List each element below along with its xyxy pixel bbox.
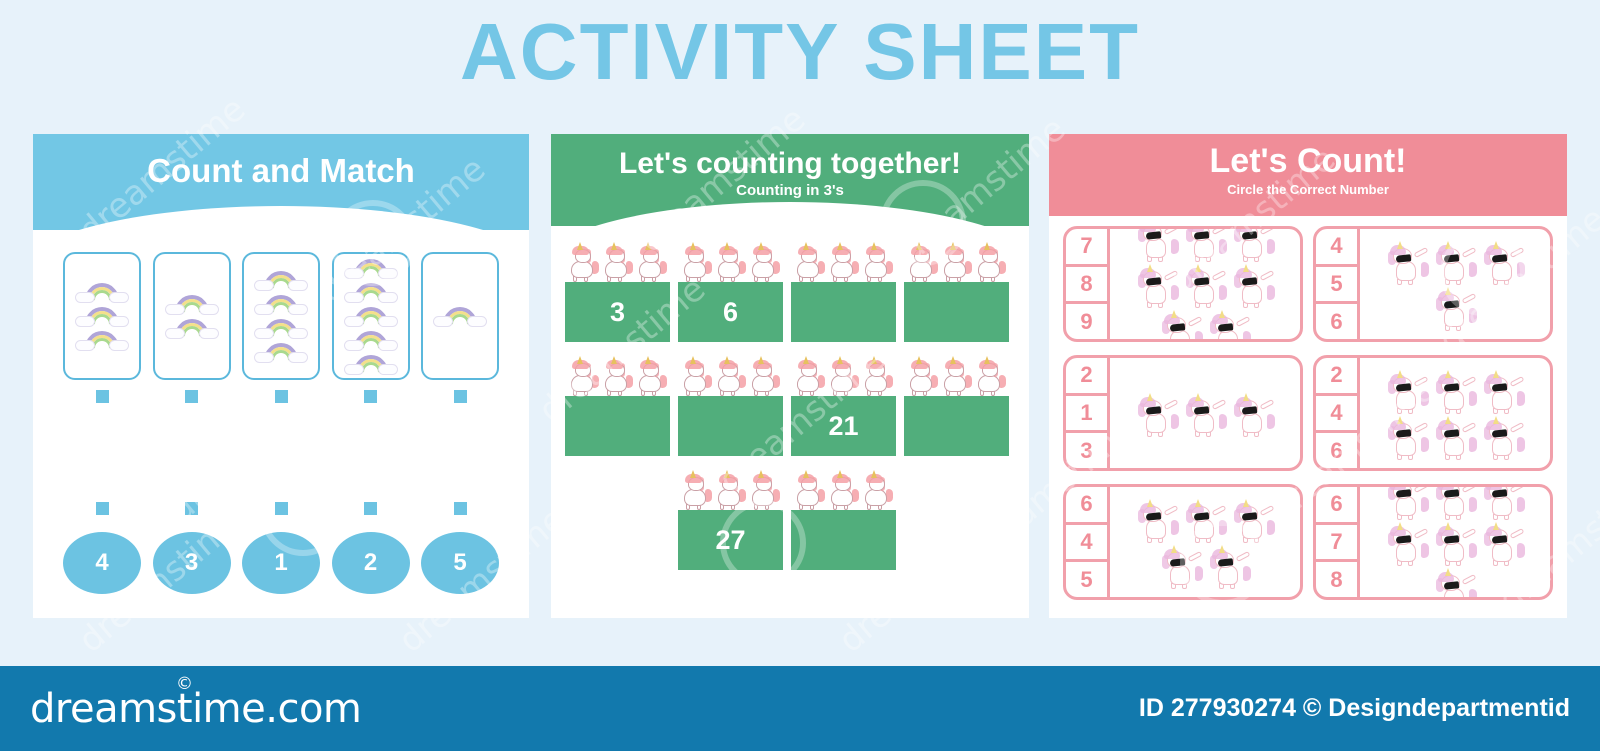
dabbing-unicorn-icon [1480, 238, 1526, 284]
dabbing-unicorn-icon [1230, 261, 1276, 307]
number-choice-column: 456 [1316, 229, 1360, 339]
unicorn-icon [859, 468, 895, 508]
unicorn-icon [825, 468, 861, 508]
match-square[interactable] [96, 502, 109, 515]
dabbing-unicorn-icon [1134, 496, 1180, 542]
number-choice[interactable]: 1 [1066, 396, 1107, 434]
match-square-cell [421, 390, 499, 403]
counting-cell [904, 352, 1009, 456]
counting-answer-box[interactable]: 27 [678, 510, 783, 570]
answer-number-oval[interactable]: 4 [63, 532, 141, 594]
match-square[interactable] [364, 390, 377, 403]
counting-row: 21 [565, 352, 1017, 456]
unicorn-icon [712, 240, 748, 280]
unicorn-icon [825, 354, 861, 394]
dabbing-unicorn-icon [1480, 413, 1526, 459]
unicorn-group [791, 466, 896, 508]
dabbing-unicorn-icon [1230, 390, 1276, 436]
dabbing-unicorn-icon [1230, 226, 1276, 261]
dabbing-unicorn-icon [1182, 261, 1228, 307]
rainbow-icon [344, 353, 398, 375]
counting-answer-box[interactable] [904, 396, 1009, 456]
number-choice[interactable]: 2 [1066, 358, 1107, 396]
dabbing-unicorn-icon [1480, 367, 1526, 413]
rainbow-count-card[interactable] [421, 252, 499, 380]
unicorn-icon [633, 354, 669, 394]
rainbow-icon [254, 269, 308, 291]
circle-number-card: 213 [1063, 355, 1303, 471]
rainbow-icon [433, 305, 487, 327]
counting-row: 27 [565, 466, 1017, 570]
counting-cell: 3 [565, 238, 670, 342]
answer-number-oval[interactable]: 3 [153, 532, 231, 594]
match-square-cell [242, 502, 320, 515]
rainbow-icon [344, 329, 398, 351]
image-credit: ID 277930274 © Designdepartmentid [1139, 694, 1570, 723]
number-choice[interactable]: 3 [1066, 433, 1107, 468]
dabbing-unicorn-icon [1182, 496, 1228, 542]
answer-number-row: 43125 [63, 532, 499, 594]
rainbow-icon [344, 305, 398, 327]
circle-number-card: 678 [1313, 484, 1553, 600]
counting-cell [791, 466, 896, 570]
rainbow-icon [75, 305, 129, 327]
unicorn-icon [825, 240, 861, 280]
dabbing-unicorn-icon [1432, 484, 1478, 519]
panel-lets-count: Let's Count! Circle the Correct Number 7… [1049, 134, 1567, 618]
number-choice[interactable]: 6 [1316, 433, 1357, 468]
unicorn-icon [599, 354, 635, 394]
number-choice[interactable]: 6 [1066, 487, 1107, 525]
rainbow-count-card[interactable] [242, 252, 320, 380]
unicorn-icon [712, 468, 748, 508]
footer-bar: dreamstime.com © ID 277930274 © Designde… [0, 666, 1600, 751]
unicorn-group [904, 352, 1009, 394]
dabbing-unicorn-icon [1480, 484, 1526, 519]
rainbow-icon [75, 281, 129, 303]
match-square-cell [421, 502, 499, 515]
match-square-cell [63, 390, 141, 403]
unicorn-picture-area [1110, 229, 1300, 339]
dabbing-unicorn-icon [1182, 390, 1228, 436]
dabbing-unicorn-icon [1384, 484, 1430, 519]
unicorn-icon [678, 240, 714, 280]
rainbow-icon [344, 257, 398, 279]
number-choice-column: 645 [1066, 487, 1110, 597]
dabbing-unicorn-icon [1432, 519, 1478, 565]
match-square-cell [63, 502, 141, 515]
number-choice[interactable]: 9 [1066, 304, 1107, 339]
rainbow-icon [75, 329, 129, 351]
unicorn-icon [791, 240, 827, 280]
counting-cell [678, 352, 783, 456]
circle-number-card: 246 [1313, 355, 1553, 471]
dabbing-unicorn-icon [1432, 367, 1478, 413]
lets-count-header: Let's Count! Circle the Correct Number [1049, 134, 1567, 216]
lets-counting-title: Let's counting together! [551, 148, 1029, 180]
match-square-row-top [63, 390, 499, 403]
number-choice[interactable]: 6 [1316, 304, 1357, 339]
counting-answer-box[interactable]: 3 [565, 282, 670, 342]
unicorn-group [678, 352, 783, 394]
circle-number-card: 789 [1063, 226, 1303, 342]
answer-number-oval[interactable]: 5 [421, 532, 499, 594]
number-choice[interactable]: 6 [1316, 487, 1357, 525]
activity-sheet-page: ACTIVITY SHEET Count and Match 43125 Let… [0, 0, 1600, 751]
dabbing-unicorn-icon [1432, 565, 1478, 600]
counting-answer-box[interactable] [791, 510, 896, 570]
unicorn-group [678, 466, 783, 508]
dabbing-unicorn-icon [1158, 542, 1204, 588]
unicorn-icon [633, 240, 669, 280]
unicorn-icon [678, 354, 714, 394]
number-choice[interactable]: 4 [1066, 525, 1107, 563]
unicorn-group [791, 352, 896, 394]
unicorn-icon [565, 354, 601, 394]
unicorn-icon [746, 468, 782, 508]
match-square[interactable] [275, 390, 288, 403]
counting-row: 36 [565, 238, 1017, 342]
unicorn-icon [904, 240, 940, 280]
answer-number-oval[interactable]: 1 [242, 532, 320, 594]
circle-number-card-grid: 789456213246645678 [1063, 226, 1553, 600]
match-square[interactable] [364, 502, 377, 515]
number-choice[interactable]: 5 [1066, 562, 1107, 597]
dabbing-unicorn-icon [1384, 519, 1430, 565]
counting-cell [565, 352, 670, 456]
lets-count-subtitle: Circle the Correct Number [1049, 182, 1567, 197]
number-choice[interactable]: 4 [1316, 229, 1357, 267]
counting-answer-box[interactable] [791, 282, 896, 342]
match-square[interactable] [454, 502, 467, 515]
unicorn-picture-area [1110, 487, 1300, 597]
counting-answer-box[interactable] [565, 396, 670, 456]
rainbow-count-card[interactable] [153, 252, 231, 380]
rainbow-icon [165, 317, 219, 339]
unicorn-icon [791, 354, 827, 394]
dabbing-unicorn-icon [1384, 413, 1430, 459]
unicorn-group [791, 238, 896, 280]
unicorn-icon [938, 354, 974, 394]
unicorn-icon [859, 240, 895, 280]
circle-number-card: 645 [1063, 484, 1303, 600]
dabbing-unicorn-icon [1206, 542, 1252, 588]
unicorn-icon [938, 240, 974, 280]
unicorn-icon [678, 468, 714, 508]
unicorn-group [904, 238, 1009, 280]
dabbing-unicorn-icon [1158, 307, 1204, 342]
rainbow-count-card[interactable] [63, 252, 141, 380]
number-choice-column: 213 [1066, 358, 1110, 468]
number-choice-column: 246 [1316, 358, 1360, 468]
match-square-cell [153, 502, 231, 515]
registered-mark-icon: © [176, 674, 193, 694]
unicorn-icon [859, 354, 895, 394]
header-wave-shape [33, 206, 529, 230]
panel-count-and-match: Count and Match 43125 [33, 134, 529, 618]
unicorn-icon [746, 354, 782, 394]
answer-number-oval[interactable]: 2 [332, 532, 410, 594]
number-choice[interactable]: 7 [1316, 525, 1357, 563]
match-square-cell [153, 390, 231, 403]
rainbow-icon [254, 293, 308, 315]
unicorn-picture-area [1360, 358, 1550, 468]
rainbow-icon [254, 341, 308, 363]
brand-text: dreamstime.com [30, 686, 361, 732]
match-square[interactable] [454, 390, 467, 403]
unicorn-group [678, 238, 783, 280]
lets-counting-subtitle: Counting in 3's [551, 182, 1029, 199]
rainbow-icon [254, 317, 308, 339]
dabbing-unicorn-icon [1384, 238, 1430, 284]
unicorn-icon [599, 240, 635, 280]
count-and-match-title: Count and Match [33, 154, 529, 189]
unicorn-picture-area [1110, 358, 1300, 468]
counting-grid: 362127 [565, 238, 1017, 580]
unicorn-icon [746, 240, 782, 280]
counting-answer-box[interactable]: 6 [678, 282, 783, 342]
dabbing-unicorn-icon [1384, 367, 1430, 413]
match-square-cell [242, 390, 320, 403]
dabbing-unicorn-icon [1230, 496, 1276, 542]
number-choice[interactable]: 5 [1316, 267, 1357, 305]
number-choice-column: 789 [1066, 229, 1110, 339]
unicorn-icon [565, 240, 601, 280]
number-choice[interactable]: 4 [1316, 396, 1357, 434]
counting-cell: 27 [678, 466, 783, 570]
rainbow-count-card[interactable] [332, 252, 410, 380]
lets-counting-header: Let's counting together! Counting in 3's [551, 134, 1029, 226]
page-title: ACTIVITY SHEET [0, 8, 1600, 96]
dabbing-unicorn-icon [1206, 307, 1252, 342]
match-square-cell [332, 502, 410, 515]
match-square[interactable] [275, 502, 288, 515]
rainbow-icon [165, 293, 219, 315]
match-square-cell [332, 390, 410, 403]
rainbow-icon [344, 281, 398, 303]
counting-cell [904, 238, 1009, 342]
dabbing-unicorn-icon [1432, 413, 1478, 459]
dabbing-unicorn-icon [1480, 519, 1526, 565]
rainbow-card-row [63, 252, 499, 380]
dabbing-unicorn-icon [1134, 226, 1180, 261]
unicorn-icon [712, 354, 748, 394]
unicorn-icon [904, 354, 940, 394]
header-wave-shape [551, 202, 1029, 226]
count-and-match-header: Count and Match [33, 134, 529, 230]
number-choice[interactable]: 2 [1316, 358, 1357, 396]
unicorn-group [565, 352, 670, 394]
circle-number-card: 456 [1313, 226, 1553, 342]
lets-count-title: Let's Count! [1049, 144, 1567, 180]
match-square[interactable] [185, 502, 198, 515]
dabbing-unicorn-icon [1134, 390, 1180, 436]
counting-answer-box[interactable]: 21 [791, 396, 896, 456]
dabbing-unicorn-icon [1432, 238, 1478, 284]
unicorn-icon [791, 468, 827, 508]
unicorn-picture-area [1360, 487, 1550, 597]
unicorn-group [565, 238, 670, 280]
match-square[interactable] [185, 390, 198, 403]
number-choice-column: 678 [1316, 487, 1360, 597]
dabbing-unicorn-icon [1134, 261, 1180, 307]
number-choice[interactable]: 7 [1066, 229, 1107, 267]
dabbing-unicorn-icon [1182, 226, 1228, 261]
counting-answer-box[interactable] [678, 396, 783, 456]
unicorn-icon [972, 240, 1008, 280]
dabbing-unicorn-icon [1432, 284, 1478, 330]
unicorn-icon [972, 354, 1008, 394]
dreamstime-logo[interactable]: dreamstime.com © [30, 686, 361, 732]
match-square-row-bottom [63, 502, 499, 515]
number-choice[interactable]: 8 [1316, 562, 1357, 597]
counting-cell [791, 238, 896, 342]
counting-cell: 6 [678, 238, 783, 342]
unicorn-picture-area [1360, 229, 1550, 339]
panel-lets-counting-together: Let's counting together! Counting in 3's… [551, 134, 1029, 618]
counting-cell: 21 [791, 352, 896, 456]
counting-answer-box[interactable] [904, 282, 1009, 342]
match-square[interactable] [96, 390, 109, 403]
number-choice[interactable]: 8 [1066, 267, 1107, 305]
